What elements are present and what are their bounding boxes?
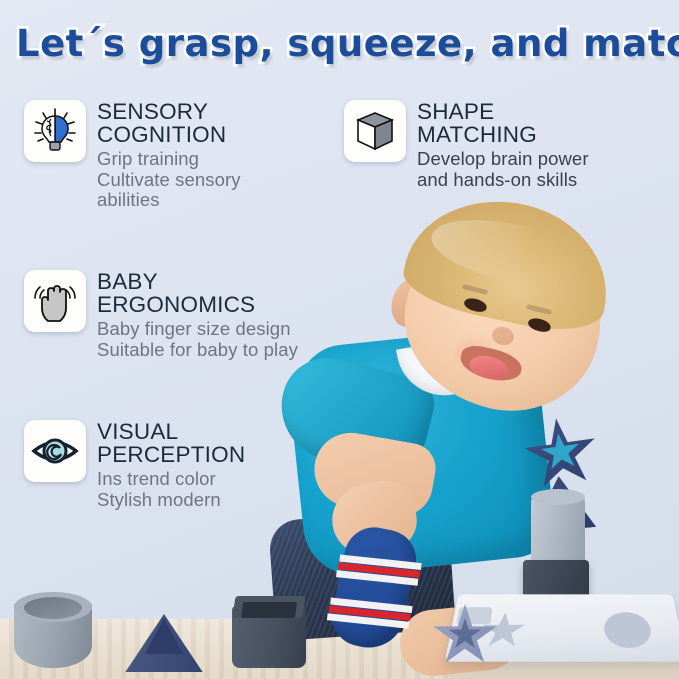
feature-baby-ergonomics: BABY ERGONOMICS Baby finger size design … [24, 270, 404, 360]
feature-sensory-cognition: SENSORY COGNITION Grip training Cultivat… [24, 100, 324, 211]
eye-icon [24, 420, 86, 482]
product-feature-banner: Let´s grasp, squeeze, and match! [0, 0, 679, 679]
navy-triangle-cup-toy [118, 598, 210, 674]
gray-cylinder-cup-toy [14, 592, 92, 670]
feature-shape-matching: SHAPE MATCHING Develop brain power and h… [344, 100, 674, 190]
cube-icon [344, 100, 406, 162]
board-cutout-circle [603, 612, 653, 648]
feature-body: Develop brain power and hands-on skills [417, 149, 589, 190]
banner-headline: Let´s grasp, squeeze, and match! [16, 22, 666, 65]
feature-visual-perception: VISUAL PERCEPTION Ins trend color Stylis… [24, 420, 324, 510]
feature-body: Baby finger size design Suitable for bab… [97, 319, 298, 360]
feature-heading: SENSORY COGNITION [97, 100, 241, 147]
feature-heading: BABY ERGONOMICS [97, 270, 298, 317]
feature-body: Grip training Cultivate sensory abilitie… [97, 149, 241, 211]
slate-square-cup-toy [232, 592, 306, 668]
feature-heading: VISUAL PERCEPTION [97, 420, 245, 467]
feature-body: Ins trend color Stylish modern [97, 469, 245, 510]
gray-cylinder-stack-toy [531, 496, 585, 568]
lightbulb-brain-icon [24, 100, 86, 162]
hand-motion-icon [24, 270, 86, 332]
feature-heading: SHAPE MATCHING [417, 100, 589, 147]
